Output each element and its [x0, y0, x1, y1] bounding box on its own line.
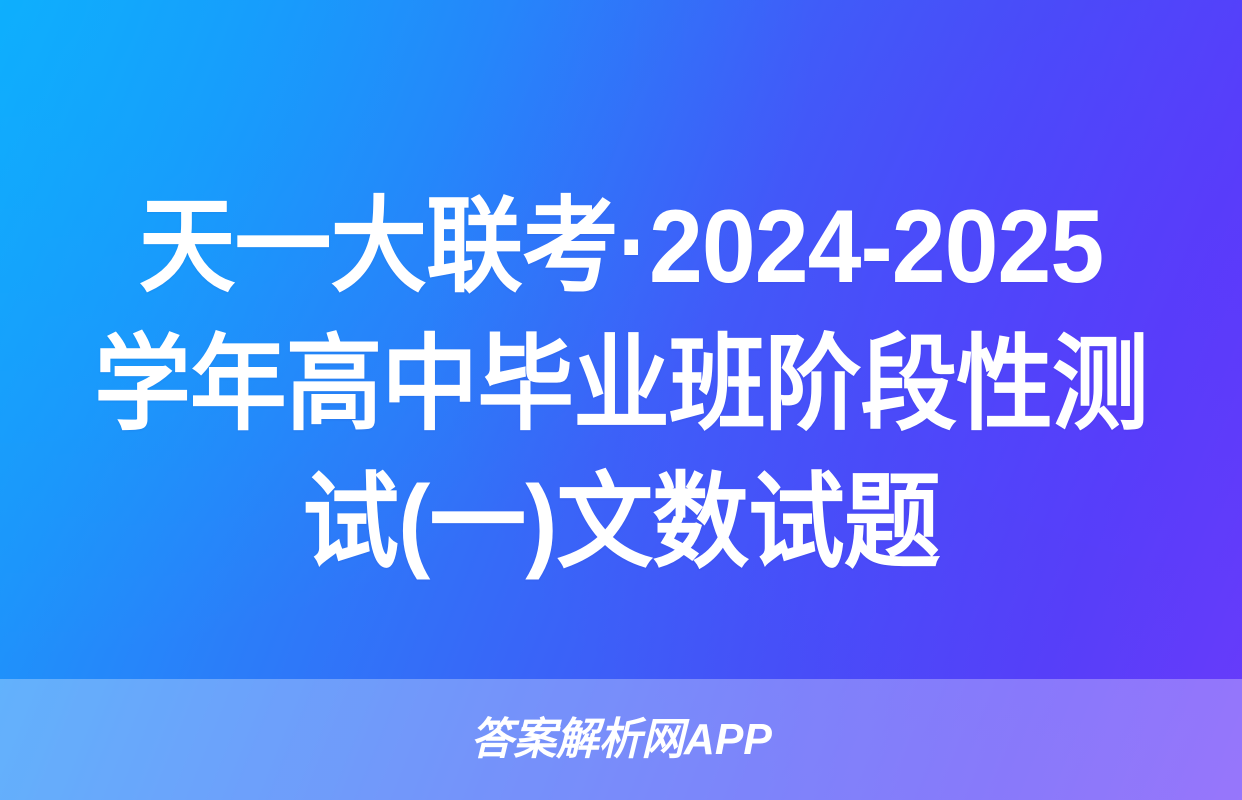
title-line-3: 试(一)文数试题: [43, 454, 1198, 592]
title-line-2: 学年高中毕业班阶段性测: [43, 316, 1198, 454]
poster-canvas: 天一大联考·2024-2025 学年高中毕业班阶段性测 试(一)文数试题 答案解…: [0, 0, 1242, 800]
watermark-text: 答案解析网APP: [470, 715, 771, 765]
footer-watermark-band: 答案解析网APP: [0, 679, 1242, 800]
title-line-1: 天一大联考·2024-2025: [43, 178, 1198, 316]
page-title: 天一大联考·2024-2025 学年高中毕业班阶段性测 试(一)文数试题: [0, 178, 1242, 592]
